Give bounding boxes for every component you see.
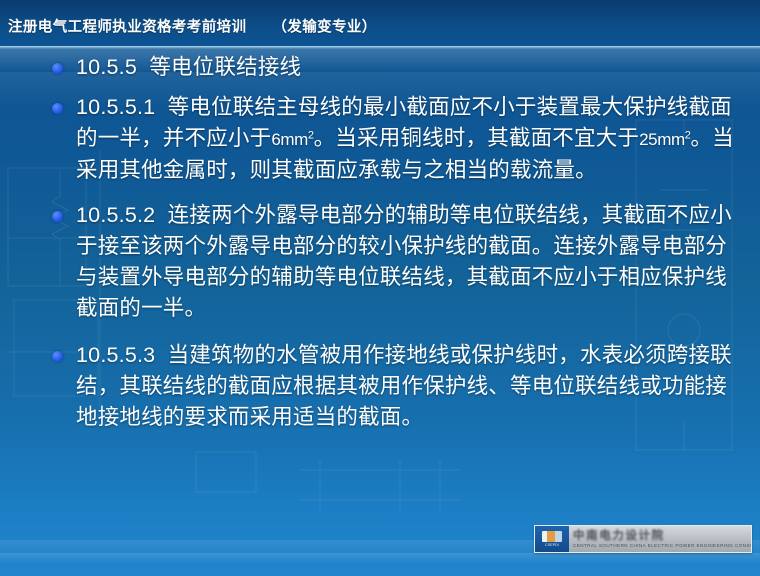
bullet-body: 当建筑物的水管被用作接地线或保护线时，水表必须跨接联结，其联结线的截面应根据其被… [76,343,732,429]
header-title-main: 注册电气工程师执业资格考考前培训 [8,20,246,36]
bullet-number-spacer [155,343,167,367]
list-item: 10.5.5 等电位联结接线 [44,52,744,83]
logo-glyph-icon [542,531,562,542]
measure-6mm2: 6mm2 [271,130,313,149]
logo-name-english: CENTRAL SOUTHERN CHINA ELECTRIC POWER EN… [573,543,752,549]
slide-content: 10.5.5 等电位联结接线 10.5.5.1 等电位联结主母线的最小截面应不小… [44,52,744,437]
logo-name-chinese: 中南电力设计院 [573,530,752,542]
unit-value: 6mm [271,130,308,149]
list-item: 10.5.5.2 连接两个外露导电部分的辅助等电位联结线，其截面不应小于接至该两… [44,200,744,324]
header-title-sub: （发输变专业） [272,20,376,36]
bullet-number: 10.5.5.2 [76,203,155,227]
bullet-body: 等电位联结接线 [149,55,301,79]
bullet-dot-icon [52,63,63,74]
bullet-dot-icon [52,103,63,114]
bullet-text-10-5-5-3: 10.5.5.3 当建筑物的水管被用作接地线或保护线时，水表必须跨接联结，其联结… [44,340,744,433]
bullet-text-10-5-5: 10.5.5 等电位联结接线 [44,52,744,83]
page-title: 注册电气工程师执业资格考考前培训（发输变专业） [8,16,377,37]
unit-value: 25mm [639,130,685,149]
logo-text-block: 中南电力设计院 CENTRAL SOUTHERN CHINA ELECTRIC … [569,526,752,552]
bullet-body-part2: 。当采用铜线时，其截面不宜大于 [314,126,640,150]
logo-mark-icon: CSEPDI [535,526,569,552]
bullet-text-10-5-5-1: 10.5.5.1 等电位联结主母线的最小截面应不小于装置最大保护线截面的一半，并… [44,92,744,186]
slide-canvas: 注册电气工程师执业资格考考前培训（发输变专业） 10.5.5 等电位联结接线 1… [0,0,760,576]
bullet-number: 10.5.5 [76,55,137,79]
bullet-body: 连接两个外露导电部分的辅助等电位联结线，其截面不应小于接至该两个外露导电部分的较… [76,203,732,320]
bullet-text-10-5-5-2: 10.5.5.2 连接两个外露导电部分的辅助等电位联结线，其截面不应小于接至该两… [44,200,744,324]
list-item: 10.5.5.3 当建筑物的水管被用作接地线或保护线时，水表必须跨接联结，其联结… [44,340,744,433]
bullet-number: 10.5.5.3 [76,343,155,367]
list-item: 10.5.5.1 等电位联结主母线的最小截面应不小于装置最大保护线截面的一半，并… [44,92,744,186]
bullet-number-spacer [155,203,167,227]
bullet-dot-icon [52,211,63,222]
header-divider-rule [0,46,760,49]
organization-logo: CSEPDI 中南电力设计院 CENTRAL SOUTHERN CHINA EL… [534,525,752,553]
measure-25mm2: 25mm2 [639,130,690,149]
bullet-number-spacer [155,95,167,119]
bullet-number: 10.5.5.1 [76,95,155,119]
background-light-band-bottom [0,553,760,563]
logo-mark-text: CSEPDI [545,543,559,547]
bullet-number-spacer [137,55,149,79]
bullet-dot-icon [52,351,63,362]
